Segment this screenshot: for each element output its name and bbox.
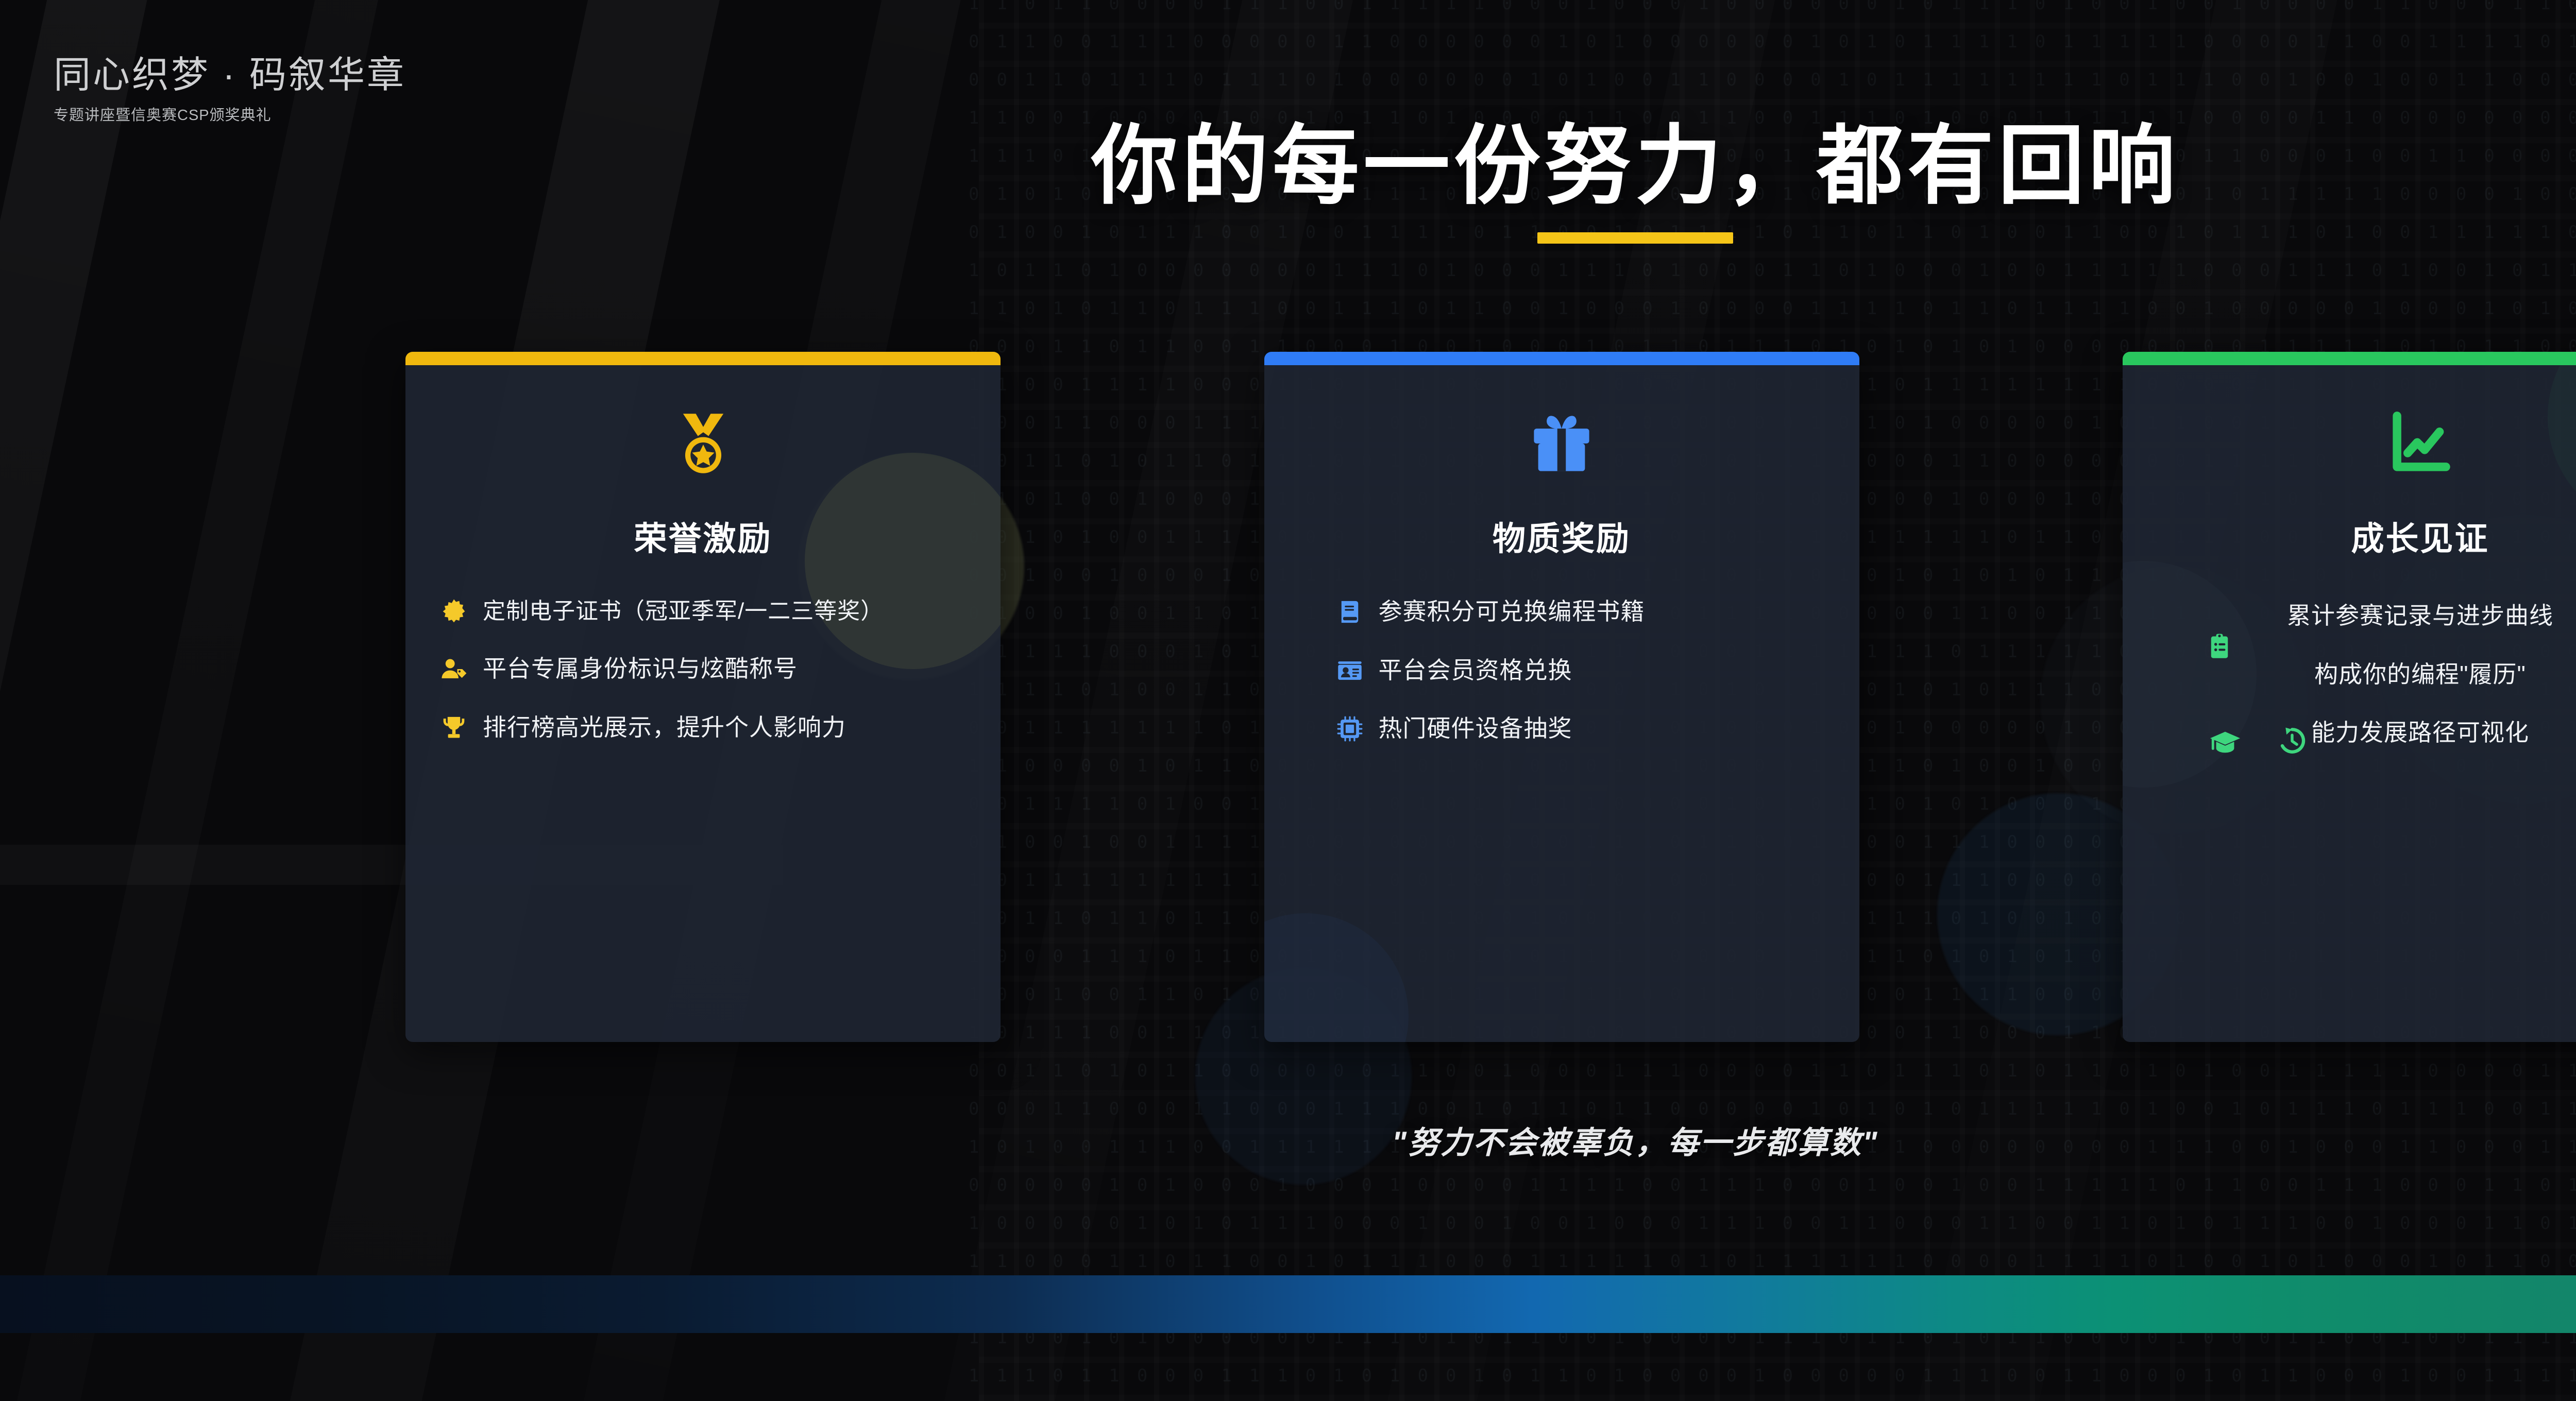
list-item-label: 构成你的编程"履历" xyxy=(2150,660,2576,690)
card-honor[interactable]: 荣誉激励 定制电子证书（冠亚季军/一二三等奖） xyxy=(405,352,1001,1042)
card-growth-witness[interactable]: 成长见证 累计参赛记录与进步曲线 构成你的编程"履历" 能力发展路径可视化 xyxy=(2123,352,2576,1042)
id-card-icon xyxy=(1336,657,1363,684)
card-material-reward[interactable]: 物质奖励 参赛积分可兑换编程书籍 xyxy=(1264,352,1859,1042)
microchip-icon xyxy=(1336,715,1363,742)
chart-line-icon xyxy=(2386,409,2454,477)
list-item-label: 定制电子证书（冠亚季军/一二三等奖） xyxy=(483,597,884,625)
footer-quote-text: "努力不会被辜负，每一步都算数" xyxy=(1392,1118,1879,1163)
card-title: 成长见证 xyxy=(2150,521,2576,557)
feature-card-row: 荣誉激励 定制电子证书（冠亚季军/一二三等奖） xyxy=(405,352,2576,1042)
card-bullet-list: 参赛积分可兑换编程书籍 平台会员资格 xyxy=(1292,597,1832,744)
list-item-label: 参赛积分可兑换编程书籍 xyxy=(1379,597,1645,627)
card-bullet-list: 定制电子证书（冠亚季军/一二三等奖） 平台专属身份标识与炫酷称号 xyxy=(433,597,973,742)
user-tag-icon xyxy=(440,656,467,682)
list-item: 平台会员资格兑换 xyxy=(1336,656,1832,686)
brand-logo: 同心织梦 · 码叙华章 专题讲座暨信奥赛CSP颁奖典礼 xyxy=(54,57,406,125)
list-item-label: 热门硬件设备抽奖 xyxy=(1379,714,1572,744)
brand-title: 同心织梦 · 码叙华章 xyxy=(54,57,406,94)
list-item-label: 平台专属身份标识与炫酷称号 xyxy=(483,654,798,684)
history-clock-icon xyxy=(2277,726,2307,756)
list-item: 热门硬件设备抽奖 xyxy=(1336,714,1832,744)
bottom-gradient-bar xyxy=(0,1275,2576,1333)
list-item: 排行榜高光展示，提升个人影响力 xyxy=(440,713,973,743)
list-item-label: 排行榜高光展示，提升个人影响力 xyxy=(483,713,846,743)
certificate-seal-icon xyxy=(440,598,467,625)
footer-quote: "努力不会被辜负，每一步都算数" xyxy=(0,1118,2576,1163)
clipboard-list-icon xyxy=(2206,633,2233,660)
card-title: 荣誉激励 xyxy=(433,521,973,557)
list-item-label: 累计参赛记录与进步曲线 xyxy=(2150,601,2576,631)
list-item: 参赛积分可兑换编程书籍 xyxy=(1336,597,1832,627)
book-icon xyxy=(1336,599,1363,625)
card-title: 物质奖励 xyxy=(1292,521,1832,557)
medal-icon xyxy=(669,409,737,477)
graduation-cap-icon xyxy=(2209,726,2241,758)
gift-icon xyxy=(1528,409,1596,477)
page-title: 你的每一份努力，都有回响 xyxy=(0,118,2576,244)
list-item: 平台专属身份标识与炫酷称号 xyxy=(440,654,973,684)
headline-text: 你的每一份努力，都有回响 xyxy=(1091,118,2179,214)
headline-underline xyxy=(1537,232,1733,244)
list-item-label: 平台会员资格兑换 xyxy=(1379,656,1572,686)
trophy-icon xyxy=(440,714,467,741)
list-item: 定制电子证书（冠亚季军/一二三等奖） xyxy=(440,597,973,625)
